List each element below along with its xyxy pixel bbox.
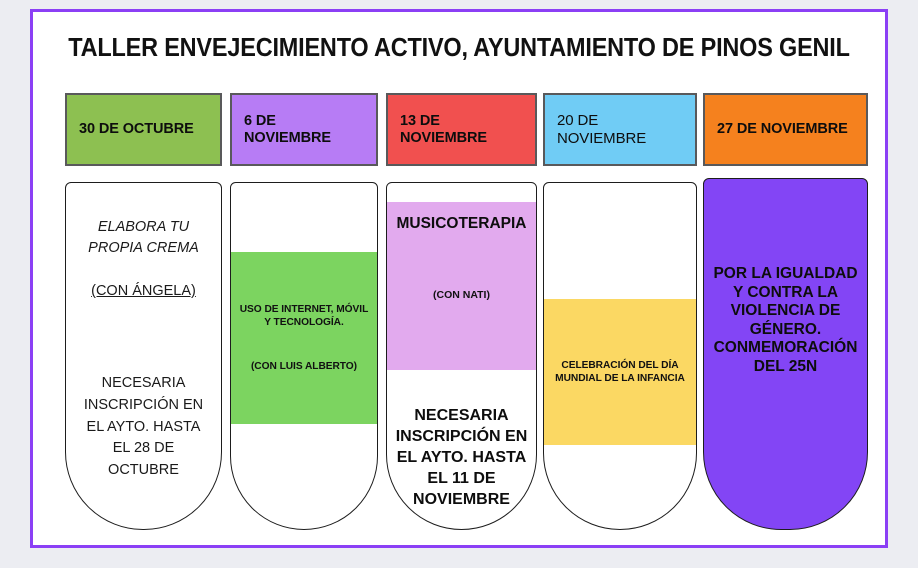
column-header-label: 6 DE NOVIEMBRE: [244, 113, 364, 146]
facilitator-label: (CON ÁNGELA): [91, 283, 196, 299]
registration-note-1: NECESARIA INSCRIPCIÓN EN EL AYTO. HASTA …: [66, 373, 221, 482]
activity-band-infancia: CELEBRACIÓN DEL DÍA MUNDIAL DE LA INFANC…: [544, 299, 696, 445]
column-header-label: 13 DE NOVIEMBRE: [400, 113, 523, 146]
activity-title-1: ELABORA TU PROPIA CREMA: [66, 217, 221, 259]
activity-band-musicoterapia: MUSICOTERAPIA (CON NATI): [387, 202, 536, 370]
registration-note-3: NECESARIA INSCRIPCIÓN EN EL AYTO. HASTA …: [387, 405, 536, 511]
activity-band-internet: USO DE INTERNET, MÓVIL Y TECNOLOGÍA. (CO…: [231, 252, 377, 424]
column-header-30-octubre[interactable]: 30 DE OCTUBRE: [65, 93, 222, 166]
column-header-label: 27 DE NOVIEMBRE: [717, 121, 848, 138]
activity-title-3: MUSICOTERAPIA: [396, 215, 526, 233]
column-body-20-noviembre: CELEBRACIÓN DEL DÍA MUNDIAL DE LA INFANC…: [543, 182, 697, 530]
column-header-20-noviembre[interactable]: 20 DE NOVIEMBRE: [543, 93, 697, 166]
column-header-27-noviembre[interactable]: 27 DE NOVIEMBRE: [703, 93, 868, 166]
column-header-6-noviembre[interactable]: 6 DE NOVIEMBRE: [230, 93, 378, 166]
column-body-13-noviembre: MUSICOTERAPIA (CON NATI) NECESARIA INSCR…: [386, 182, 537, 530]
column-header-label: 20 DE NOVIEMBRE: [557, 112, 683, 147]
activity-facilitator-1: (CON ÁNGELA): [66, 281, 221, 302]
poster-card: TALLER ENVEJECIMIENTO ACTIVO, AYUNTAMIEN…: [30, 9, 888, 548]
column-header-label: 30 DE OCTUBRE: [79, 121, 194, 138]
column-header-13-noviembre[interactable]: 13 DE NOVIEMBRE: [386, 93, 537, 166]
column-body-30-octubre: ELABORA TU PROPIA CREMA (CON ÁNGELA) NEC…: [65, 182, 222, 530]
page-title: TALLER ENVEJECIMIENTO ACTIVO, AYUNTAMIEN…: [67, 34, 851, 63]
activity-title-5: POR LA IGUALDAD Y CONTRA LA VIOLENCIA DE…: [704, 265, 867, 377]
column-body-27-noviembre: POR LA IGUALDAD Y CONTRA LA VIOLENCIA DE…: [703, 178, 868, 530]
activity-facilitator-2: (CON LUIS ALBERTO): [251, 360, 357, 373]
activity-facilitator-3: (CON NATI): [433, 289, 490, 301]
column-body-6-noviembre: USO DE INTERNET, MÓVIL Y TECNOLOGÍA. (CO…: [230, 182, 378, 530]
activity-title-4: CELEBRACIÓN DEL DÍA MUNDIAL DE LA INFANC…: [544, 359, 696, 385]
activity-title-2: USO DE INTERNET, MÓVIL Y TECNOLOGÍA.: [231, 303, 377, 329]
